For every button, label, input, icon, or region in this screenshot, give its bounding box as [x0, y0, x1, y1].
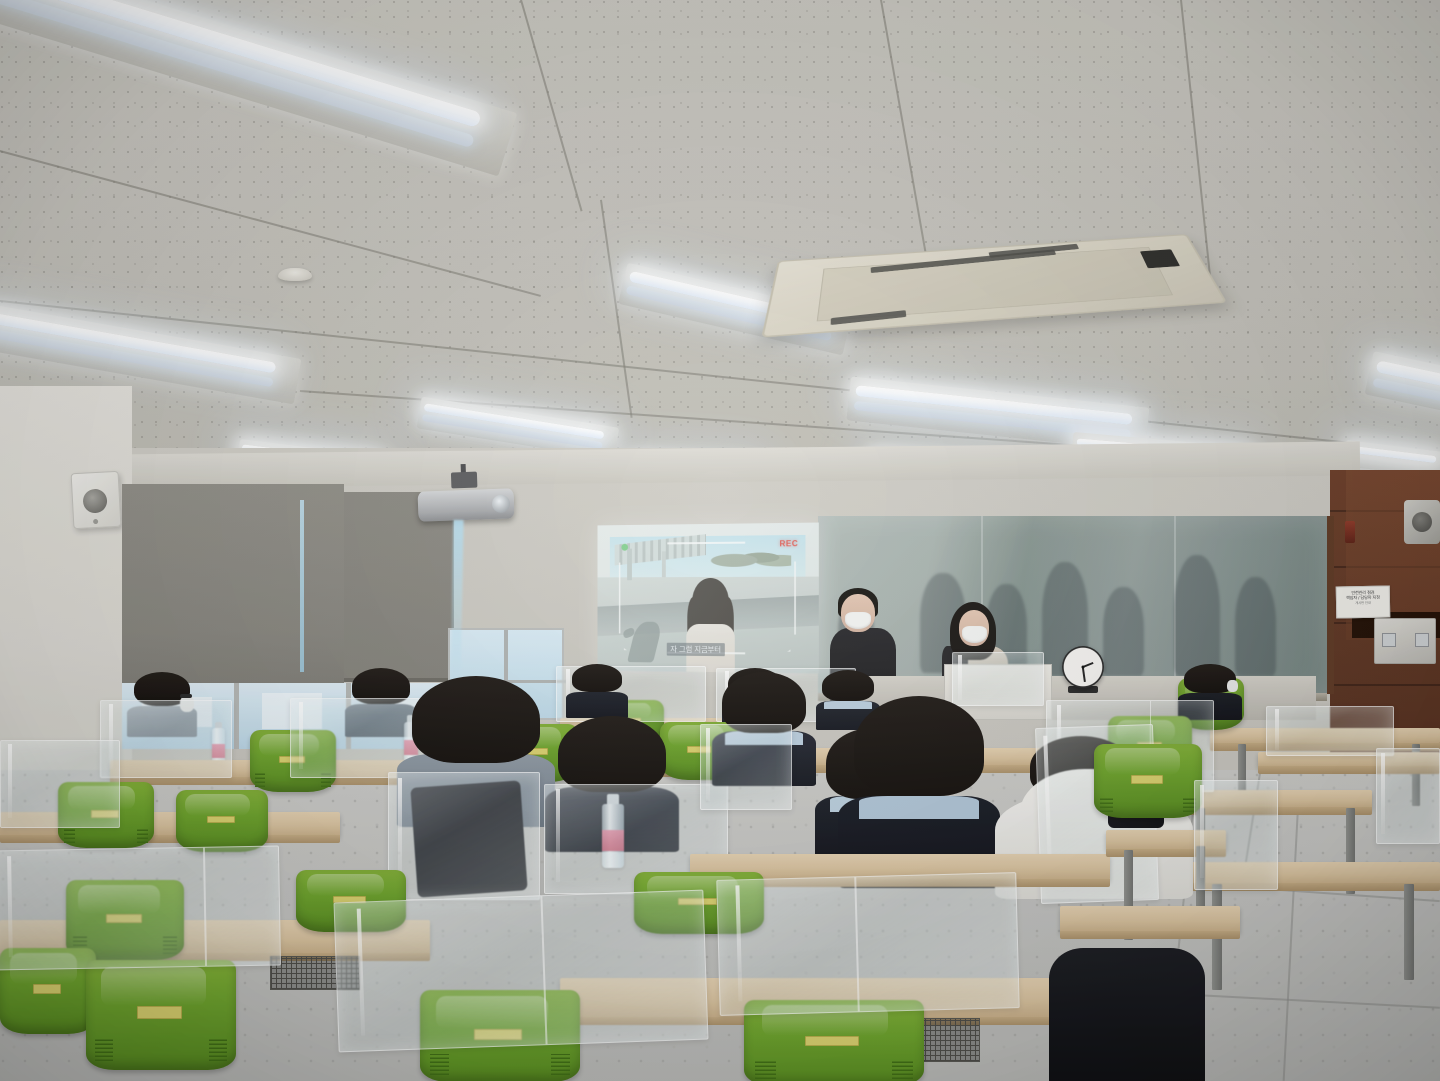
desk — [1060, 906, 1240, 932]
acrylic-divider — [1266, 706, 1394, 756]
viewfinder-frame — [619, 541, 796, 655]
record-dot-icon — [621, 544, 628, 551]
wall-sign: 안전관리 점검 책임자 / 담당자 지정 게시판 안내 — [1336, 586, 1391, 619]
classroom-photo: 안전관리 점검 책임자 / 담당자 지정 게시판 안내 REC 자 그럼 지금부… — [0, 0, 1440, 1081]
wall-speaker-right — [1404, 500, 1440, 544]
acrylic-divider — [1376, 748, 1440, 844]
chair[interactable] — [176, 790, 268, 852]
video-subtitle: 자 그럼 지금부터 — [666, 642, 724, 656]
chair[interactable] — [1094, 744, 1202, 818]
ceiling-projector — [417, 484, 514, 523]
acrylic-divider — [716, 872, 1019, 1016]
projection-screen: REC 자 그럼 지금부터 — [597, 523, 818, 674]
acrylic-divider — [0, 740, 120, 828]
smoke-detector — [278, 268, 312, 281]
acrylic-divider — [700, 724, 792, 810]
wall-control-panel[interactable] — [1374, 618, 1436, 664]
glasses — [180, 694, 192, 699]
roller-blind[interactable] — [122, 484, 344, 699]
desk-leg — [1404, 884, 1414, 980]
wall-sign-line-3: 게시판 안내 — [1339, 600, 1387, 606]
emergency-light — [1345, 521, 1355, 543]
acrylic-divider — [0, 845, 281, 970]
rec-indicator: REC — [779, 539, 798, 548]
acrylic-divider — [1194, 780, 1278, 890]
chair[interactable] — [86, 960, 236, 1070]
wall-speaker-left — [71, 471, 122, 529]
acrylic-divider — [333, 890, 708, 1053]
blind-chain[interactable] — [300, 500, 304, 672]
student — [572, 664, 622, 714]
acrylic-divider — [388, 772, 540, 900]
wall-clock — [1062, 646, 1104, 688]
student — [1064, 930, 1190, 1080]
student — [854, 696, 984, 874]
